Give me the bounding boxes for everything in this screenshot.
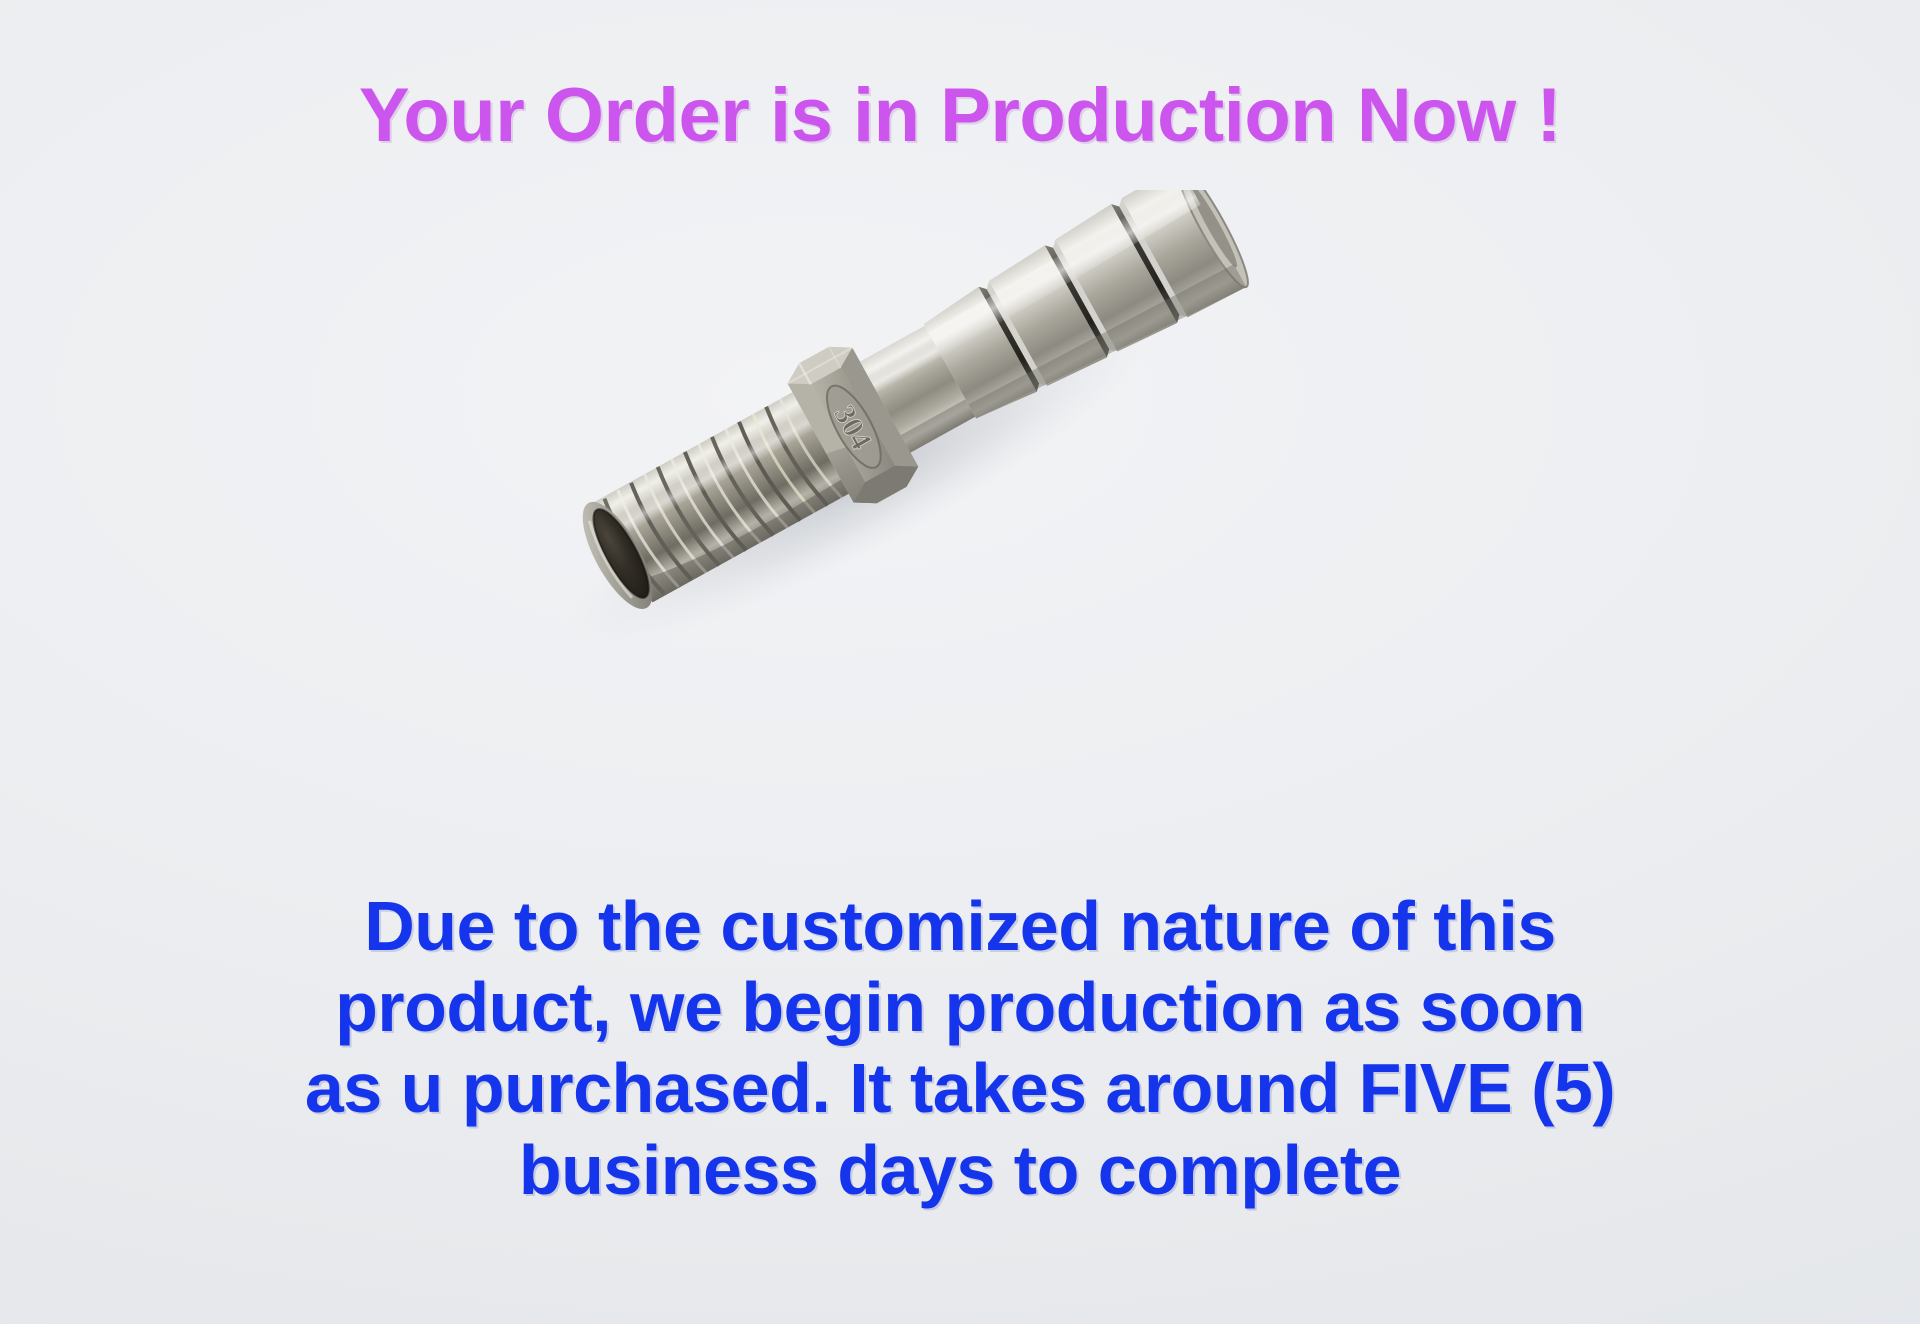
body-text: Due to the customized nature of this pro… [0, 886, 1920, 1211]
body-line-3: as u purchased. It takes around FIVE (5) [0, 1048, 1920, 1129]
hose-barb-fitting-illustration: 304 [460, 190, 1460, 810]
page-title: Your Order is in Production Now ! [0, 78, 1920, 154]
body-line-2: product, we begin production as soon [0, 967, 1920, 1048]
body-line-1: Due to the customized nature of this [0, 886, 1920, 967]
body-line-4: business days to complete [0, 1130, 1920, 1211]
promo-banner: Your Order is in Production Now ! [0, 0, 1920, 1324]
fitting-body: 304 [560, 190, 1262, 636]
product-image: 304 [0, 190, 1920, 830]
